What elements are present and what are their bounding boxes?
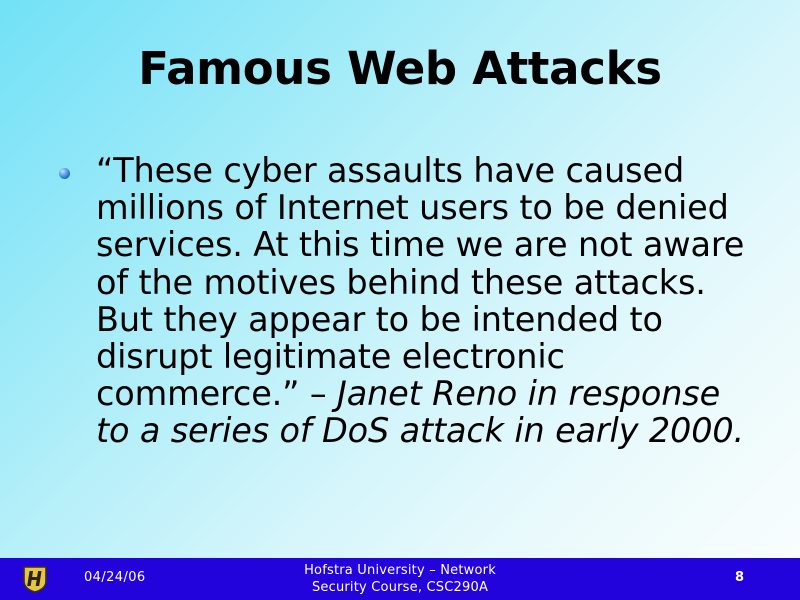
footer-course-line-1: Hofstra University – Network [240,562,560,579]
body-content: “These cyber assaults have caused millio… [52,152,752,450]
quote-paragraph: “These cyber assaults have caused millio… [96,152,752,450]
page-title: Famous Web Attacks [40,44,760,94]
footer-course-info: Hofstra University – Network Security Co… [240,562,560,596]
slide-number: 8 [735,570,744,585]
blue-sphere-bullet-icon [59,168,70,179]
slide: Famous Web Attacks “These cyber assaults… [0,0,800,600]
hofstra-shield-logo-icon [22,565,48,593]
bullet-list-item: “These cyber assaults have caused millio… [52,152,752,450]
footer-bar: 04/24/06 Hofstra University – Network Se… [0,558,800,600]
footer-course-line-2: Security Course, CSC290A [240,579,560,596]
footer-date: 04/24/06 [84,570,146,585]
